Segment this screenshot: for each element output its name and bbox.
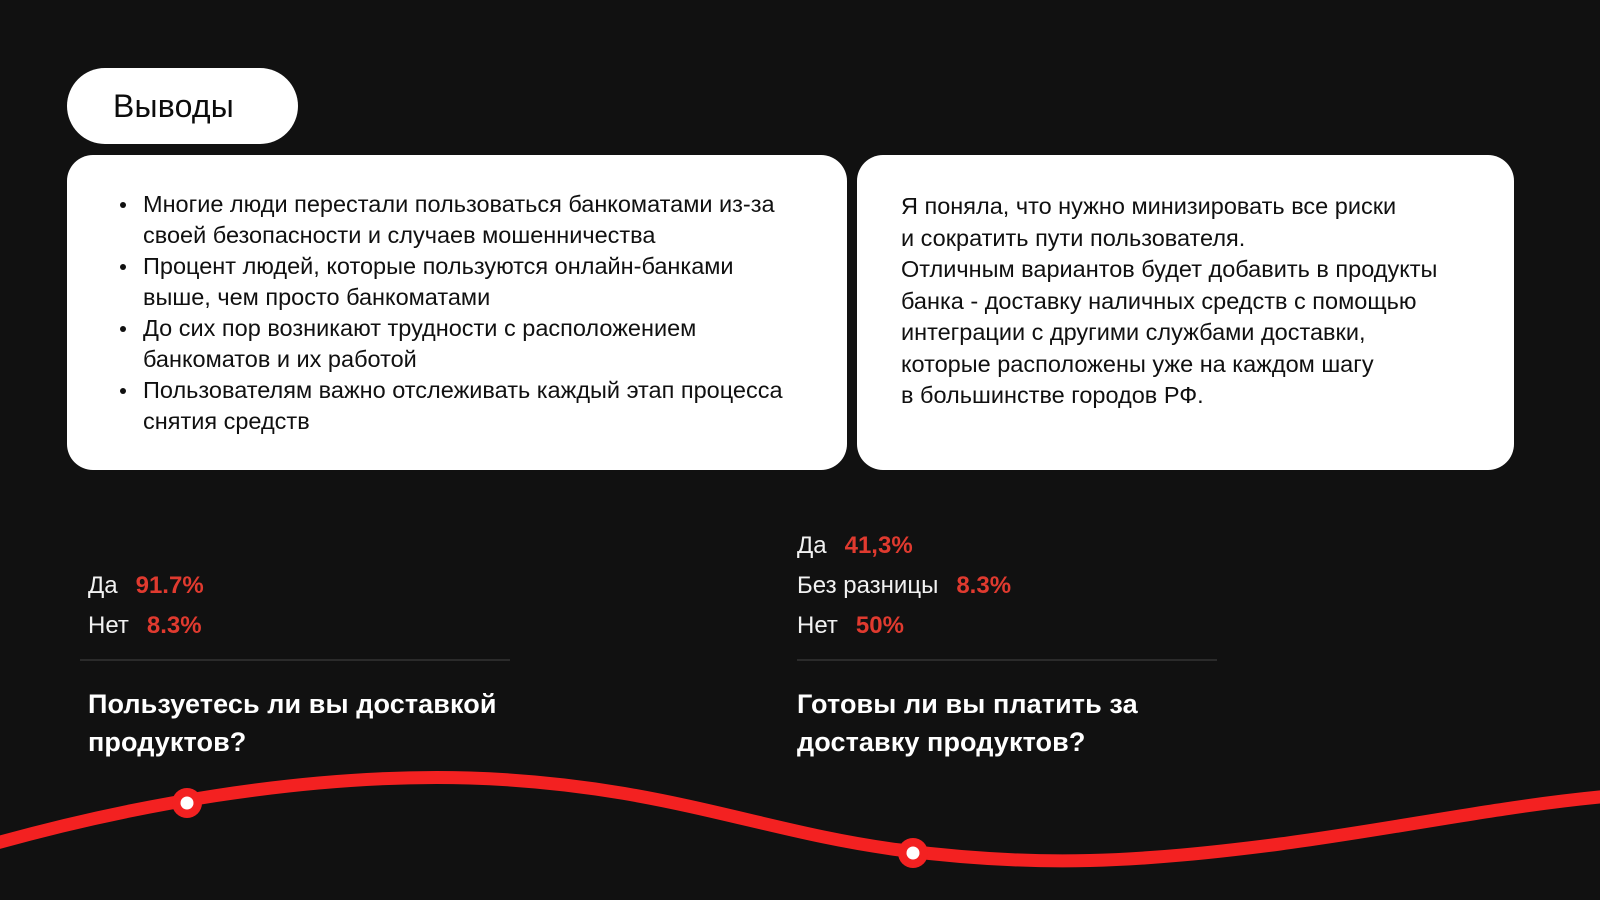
stat-value: 91.7% (136, 570, 204, 602)
survey-stats-delivery-usage: Да 91.7% Нет 8.3% (88, 570, 518, 650)
insight-card: Я поняла, что нужно минизировать все рис… (857, 155, 1514, 470)
insight-line: в большинстве городов РФ. (901, 380, 1470, 412)
stat-value: 50% (856, 610, 904, 642)
wave-node-marker-left (172, 788, 202, 818)
slide-conclusions: Выводы Многие люди перестали пользоватьс… (0, 0, 1600, 900)
stat-label: Нет (797, 610, 838, 642)
wave-node-marker-right (898, 838, 928, 868)
divider (797, 659, 1217, 661)
stat-value: 41,3% (845, 530, 913, 562)
insight-line: Я поняла, что нужно минизировать все рис… (901, 191, 1470, 223)
conclusions-bullet-list: Многие люди перестали пользоваться банко… (107, 189, 807, 437)
list-item: До сих пор возникают трудности с располо… (107, 313, 807, 375)
stat-row: Нет 8.3% (88, 610, 518, 642)
insight-line: банка - доставку наличных средств с помо… (901, 286, 1470, 318)
survey-stats-delivery-payment: Да 41,3% Без разницы 8.3% Нет 50% (797, 530, 1227, 650)
section-title-pill: Выводы (67, 68, 298, 144)
stat-row: Без разницы 8.3% (797, 570, 1227, 602)
insight-line: Отличным вариантов будет добавить в прод… (901, 254, 1470, 286)
stat-row: Да 41,3% (797, 530, 1227, 562)
stat-label: Без разницы (797, 570, 938, 602)
stat-label: Да (88, 570, 118, 602)
list-item: Пользователям важно отслеживать каждый э… (107, 375, 807, 437)
wave-path (0, 778, 1600, 861)
stat-value: 8.3% (147, 610, 202, 642)
stat-row: Нет 50% (797, 610, 1227, 642)
stat-label: Нет (88, 610, 129, 642)
decorative-wave (0, 740, 1600, 900)
page-title: Выводы (113, 90, 234, 122)
list-item: Процент людей, которые пользуются онлайн… (107, 251, 807, 313)
wave-node-inner-dot (181, 797, 194, 810)
list-item: Многие люди перестали пользоваться банко… (107, 189, 807, 251)
stat-row: Да 91.7% (88, 570, 518, 602)
insight-line: и сократить пути пользователя. (901, 223, 1470, 255)
insight-line: интеграции с другими службами доставки, (901, 317, 1470, 349)
insight-line: которые расположены уже на каждом шагу (901, 349, 1470, 381)
stat-value: 8.3% (956, 570, 1011, 602)
conclusions-card: Многие люди перестали пользоваться банко… (67, 155, 847, 470)
wave-node-inner-dot (907, 847, 920, 860)
divider (80, 659, 510, 661)
stat-label: Да (797, 530, 827, 562)
